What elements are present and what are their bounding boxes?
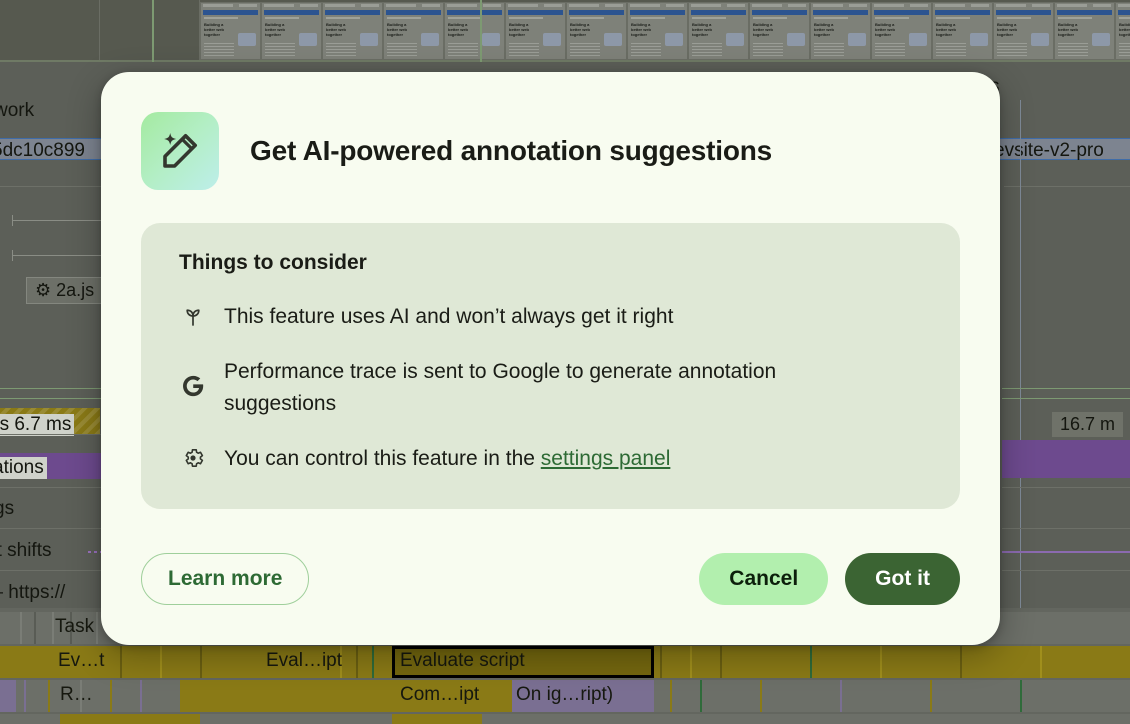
filmstrip-thumbnail-image xyxy=(726,33,744,46)
filmstrip-thumbnail[interactable]: Building a better web together xyxy=(993,2,1054,60)
consideration-item-ai-accuracy: This feature uses AI and won’t always ge… xyxy=(179,301,922,333)
filmstrip-thumbnail-heading: Building a better web together xyxy=(509,22,535,37)
network-section-label: work xyxy=(0,100,34,122)
filmstrip-thumbnail[interactable]: Building a better web together xyxy=(444,2,505,60)
filmstrip-thumbnail[interactable]: Building a better web together xyxy=(749,2,810,60)
filmstrip-thumbnail-image xyxy=(421,33,439,46)
flame-label-evt: Ev…t xyxy=(58,650,104,672)
filmstrip-thumbnail-image xyxy=(970,33,988,46)
filmstrip-thumbnail[interactable]: Building a better web together xyxy=(566,2,627,60)
filmstrip-thumbnail-image xyxy=(848,33,866,46)
filmstrip-thumbnail-heading: Building a better web together xyxy=(936,22,962,37)
track-label-3: ut shifts xyxy=(0,540,51,562)
info-card-heading: Things to consider xyxy=(179,251,922,275)
filmstrip-thumbnail-image xyxy=(665,33,683,46)
filmstrip-thumbnail[interactable]: Building a better web together xyxy=(932,2,993,60)
track-label-1: ations xyxy=(0,457,47,479)
filmstrip-thumbnail-heading: Building a better web together xyxy=(753,22,779,37)
filmstrip-thumbnail-heading: Building a better web together xyxy=(448,22,474,37)
filmstrip-divider xyxy=(480,0,482,62)
filmstrip-gap xyxy=(0,0,100,60)
consideration-text-1: Performance trace is sent to Google to g… xyxy=(224,356,884,420)
track-label-4: — https:// xyxy=(0,582,65,604)
filmstrip-thumbnail[interactable]: Building a better web together xyxy=(810,2,871,60)
dialog-title: Get AI-powered annotation suggestions xyxy=(250,135,772,167)
filmstrip-thumbnail[interactable]: Building a better web together xyxy=(200,2,261,60)
gear-icon: ⚙ xyxy=(35,280,51,300)
filmstrip-thumbnail-image xyxy=(1092,33,1110,46)
filmstrip-gap xyxy=(100,0,200,60)
filmstrip-thumbnail-heading: Building a better web together xyxy=(204,22,230,37)
flame-label-task: Task xyxy=(55,616,94,638)
filmstrip-thumbnail-heading: Building a better web together xyxy=(570,22,596,37)
sprout-icon xyxy=(179,302,207,330)
flame-row-evaluate: Ev…t Eval…ipt Evaluate script xyxy=(0,646,1130,680)
track-label-0: es 6.7 ms xyxy=(0,414,74,436)
flame-label-onignore: On ig…ript) xyxy=(516,684,613,706)
filmstrip-thumbnail-image xyxy=(909,33,927,46)
filmstrip-thumbnail[interactable]: Building a better web together xyxy=(1115,2,1130,60)
learn-more-button[interactable]: Learn more xyxy=(141,553,309,605)
dialog-footer: Learn more Cancel Got it xyxy=(141,523,960,605)
google-g-icon xyxy=(179,372,207,400)
filmstrip-thumbnail[interactable]: Building a better web together xyxy=(505,2,566,60)
filmstrip-thumbnail-heading: Building a better web together xyxy=(1119,22,1130,37)
flame-label-r: R… xyxy=(60,684,93,706)
filmstrip-thumbnail-image xyxy=(482,33,500,46)
filmstrip-thumbnail-image xyxy=(360,33,378,46)
filmstrip-thumbnail-heading: Building a better web together xyxy=(1058,22,1084,37)
network-request-label-left: 5dc10c899 xyxy=(0,140,85,162)
timing-tick-line xyxy=(12,220,104,221)
filmstrip-thumbnail-image xyxy=(1031,33,1049,46)
ai-annotation-suggestions-dialog: Get AI-powered annotation suggestions Th… xyxy=(101,72,1000,645)
filmstrip-thumbnail[interactable]: Building a better web together xyxy=(871,2,932,60)
filmstrip-thumbnail-heading: Building a better web together xyxy=(692,22,718,37)
script-chip[interactable]: ⚙ 2a.js xyxy=(26,277,103,304)
timing-tick-line xyxy=(12,255,104,256)
filmstrip-thumbnail-image xyxy=(543,33,561,46)
filmstrip-thumbnail-heading: Building a better web together xyxy=(875,22,901,37)
flame-label-compile: Com…ipt xyxy=(400,684,479,706)
filmstrip-thumbnail-heading: Building a better web together xyxy=(326,22,352,37)
track-label-2: gs xyxy=(0,498,14,520)
filmstrip-thumbnail-image xyxy=(787,33,805,46)
filmstrip-thumbnail-heading: Building a better web together xyxy=(814,22,840,37)
consideration-text-0: This feature uses AI and won’t always ge… xyxy=(224,301,673,333)
timing-duration-label: 16.7 m xyxy=(1052,412,1123,437)
filmstrip-thumbnail[interactable]: Building a better web together xyxy=(383,2,444,60)
filmstrip-thumbnail-heading: Building a better web together xyxy=(387,22,413,37)
consideration-item-settings: You can control this feature in the sett… xyxy=(179,443,922,475)
filmstrip-thumbnail[interactable]: Building a better web together xyxy=(688,2,749,60)
track-bar-animations-right[interactable] xyxy=(1002,440,1130,478)
filmstrip-thumbnail[interactable]: Building a better web together xyxy=(627,2,688,60)
cancel-button[interactable]: Cancel xyxy=(699,553,828,605)
filmstrip-divider xyxy=(152,0,154,62)
consideration-item-trace-sent: Performance trace is sent to Google to g… xyxy=(179,356,922,420)
filmstrip-thumbnail[interactable]: Building a better web together xyxy=(261,2,322,60)
network-request-label-right: evsite-v2-pro xyxy=(994,140,1104,162)
ai-magic-pencil-icon xyxy=(141,112,219,190)
filmstrip-thumbnail-heading: Building a better web together xyxy=(997,22,1023,37)
flame-row-compile: R… Com…ipt On ig…ript) xyxy=(0,680,1130,714)
consideration-text-2: You can control this feature in the sett… xyxy=(224,443,670,475)
filmstrip-thumbnail-heading: Building a better web together xyxy=(265,22,291,37)
ai-magic-pencil-glyph xyxy=(156,127,204,175)
dialog-header: Get AI-powered annotation suggestions xyxy=(141,112,960,190)
filmstrip-thumbnail[interactable]: Building a better web together xyxy=(322,2,383,60)
filmstrip-thumbnail-image xyxy=(604,33,622,46)
settings-panel-link[interactable]: settings panel xyxy=(541,447,671,470)
footer-action-group: Cancel Got it xyxy=(699,553,960,605)
filmstrip-track[interactable]: Building a better web togetherBuilding a… xyxy=(0,0,1130,62)
script-chip-label: 2a.js xyxy=(56,280,94,300)
flame-label-evaluate-script: Evaluate script xyxy=(400,650,525,672)
flame-row-extra xyxy=(0,714,1130,724)
filmstrip-thumbnail[interactable]: Building a better web together xyxy=(1054,2,1115,60)
filmstrip-thumbnail-image xyxy=(299,33,317,46)
things-to-consider-card: Things to consider This feature uses AI … xyxy=(141,223,960,509)
flame-label-evalipt: Eval…ipt xyxy=(266,650,342,672)
gear-icon xyxy=(179,444,207,472)
got-it-button[interactable]: Got it xyxy=(845,553,960,605)
filmstrip-thumbnail-image xyxy=(238,33,256,46)
filmstrip-thumbnail-heading: Building a better web together xyxy=(631,22,657,37)
consideration-text-2-prefix: You can control this feature in the xyxy=(224,447,541,470)
